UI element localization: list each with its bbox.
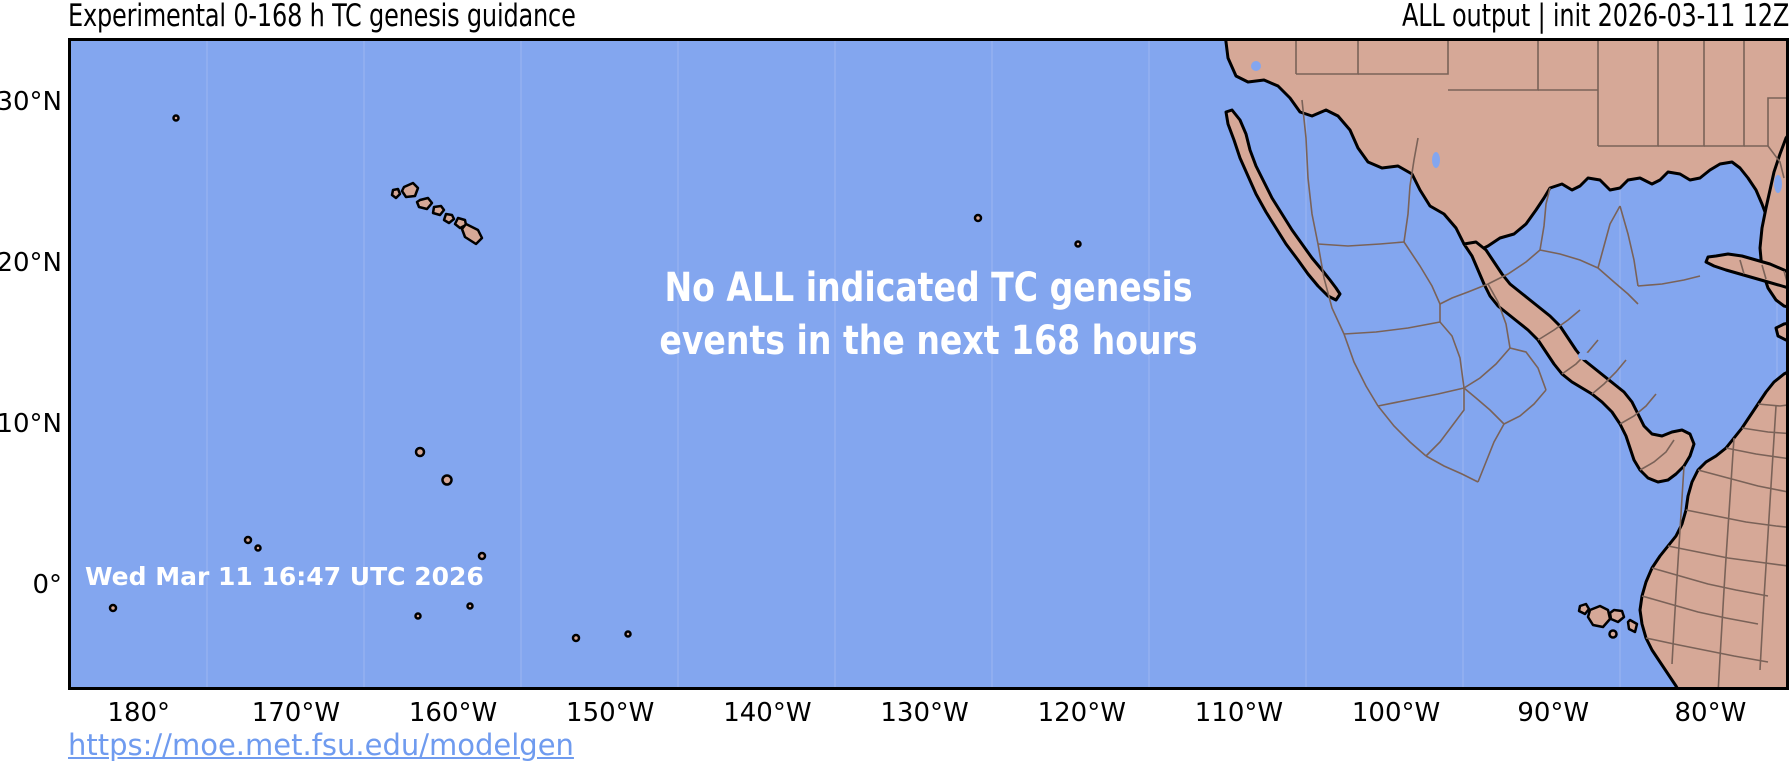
header-model-init-label: ALL output | init 2026-03-11 12Z [1402, 0, 1789, 34]
x-tick-label: 90°W [1517, 698, 1589, 728]
page-title: Experimental 0-168 h TC genesis guidance [68, 0, 576, 34]
map-axes[interactable] [68, 38, 1789, 690]
figure-header: Experimental 0-168 h TC genesis guidance… [0, 0, 1789, 36]
x-tick-label: 170°W [252, 698, 340, 728]
tc-genesis-guidance-figure: Experimental 0-168 h TC genesis guidance… [0, 0, 1789, 768]
y-tick-label: 10°N [0, 409, 62, 439]
source-url-link[interactable]: https://moe.met.fsu.edu/modelgen [68, 728, 574, 762]
map-canvas [68, 38, 1789, 690]
x-tick-label: 110°W [1195, 698, 1283, 728]
y-tick-label: 30°N [0, 87, 62, 117]
x-tick-label: 140°W [723, 698, 811, 728]
x-tick-label: 160°W [409, 698, 497, 728]
y-tick-label: 0° [32, 570, 62, 600]
timestamp-label: Wed Mar 11 16:47 UTC 2026 [85, 562, 484, 591]
x-tick-label: 80°W [1675, 698, 1747, 728]
x-tick-label: 180° [107, 698, 170, 728]
x-tick-label: 100°W [1352, 698, 1440, 728]
x-tick-label: 130°W [880, 698, 968, 728]
y-tick-label: 20°N [0, 248, 62, 278]
x-tick-label: 120°W [1038, 698, 1126, 728]
x-tick-label: 150°W [566, 698, 654, 728]
